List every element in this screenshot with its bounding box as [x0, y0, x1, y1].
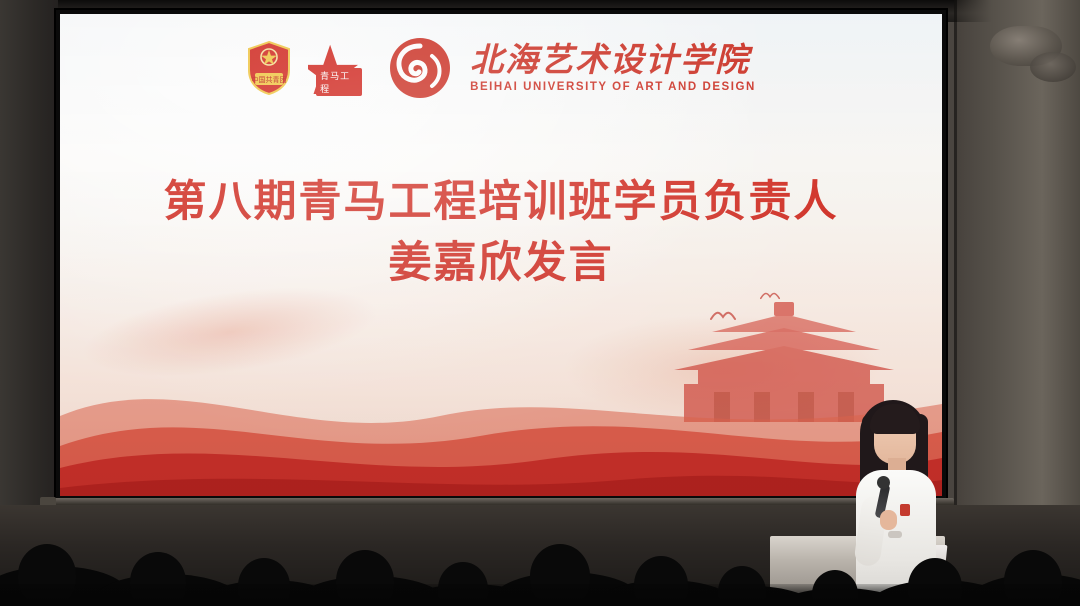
university-name-block: 北海艺术设计学院 BEIHAI UNIVERSITY OF ART AND DE… [470, 43, 756, 94]
red-mountain-waves [60, 296, 942, 496]
foreground-shadow [0, 584, 1080, 606]
university-name-cn: 北海艺术设计学院 [470, 43, 756, 78]
slide-title-line2: 姜嘉欣发言 [60, 233, 942, 294]
svg-text:中国共青团: 中国共青团 [252, 75, 287, 84]
projection-screen: 中国共青团 青马工程 北海艺术设计学院 BEIHAI UNIVERSITY OF… [60, 14, 942, 496]
university-name-en: BEIHAI UNIVERSITY OF ART AND DESIGN [470, 81, 756, 93]
red-star-icon: 青马工程 [308, 42, 362, 94]
program-badge-label: 青马工程 [316, 68, 362, 96]
slide-title-line1: 第八期青马工程培训班学员负责人 [164, 177, 839, 227]
slide-title: 第八期青马工程培训班学员负责人 姜嘉欣发言 [60, 172, 942, 294]
auditorium-scene: 中国共青团 青马工程 北海艺术设计学院 BEIHAI UNIVERSITY OF… [0, 0, 1080, 606]
microphone-head-icon [877, 476, 890, 489]
slide-logo-row: 中国共青团 青马工程 北海艺术设计学院 BEIHAI UNIVERSITY OF… [60, 36, 942, 100]
beihai-university-swirl-logo-icon [388, 36, 452, 100]
ceiling-light-fixture-secondary-icon [1030, 52, 1076, 82]
communist-youth-league-emblem-icon: 中国共青团 [246, 40, 292, 96]
